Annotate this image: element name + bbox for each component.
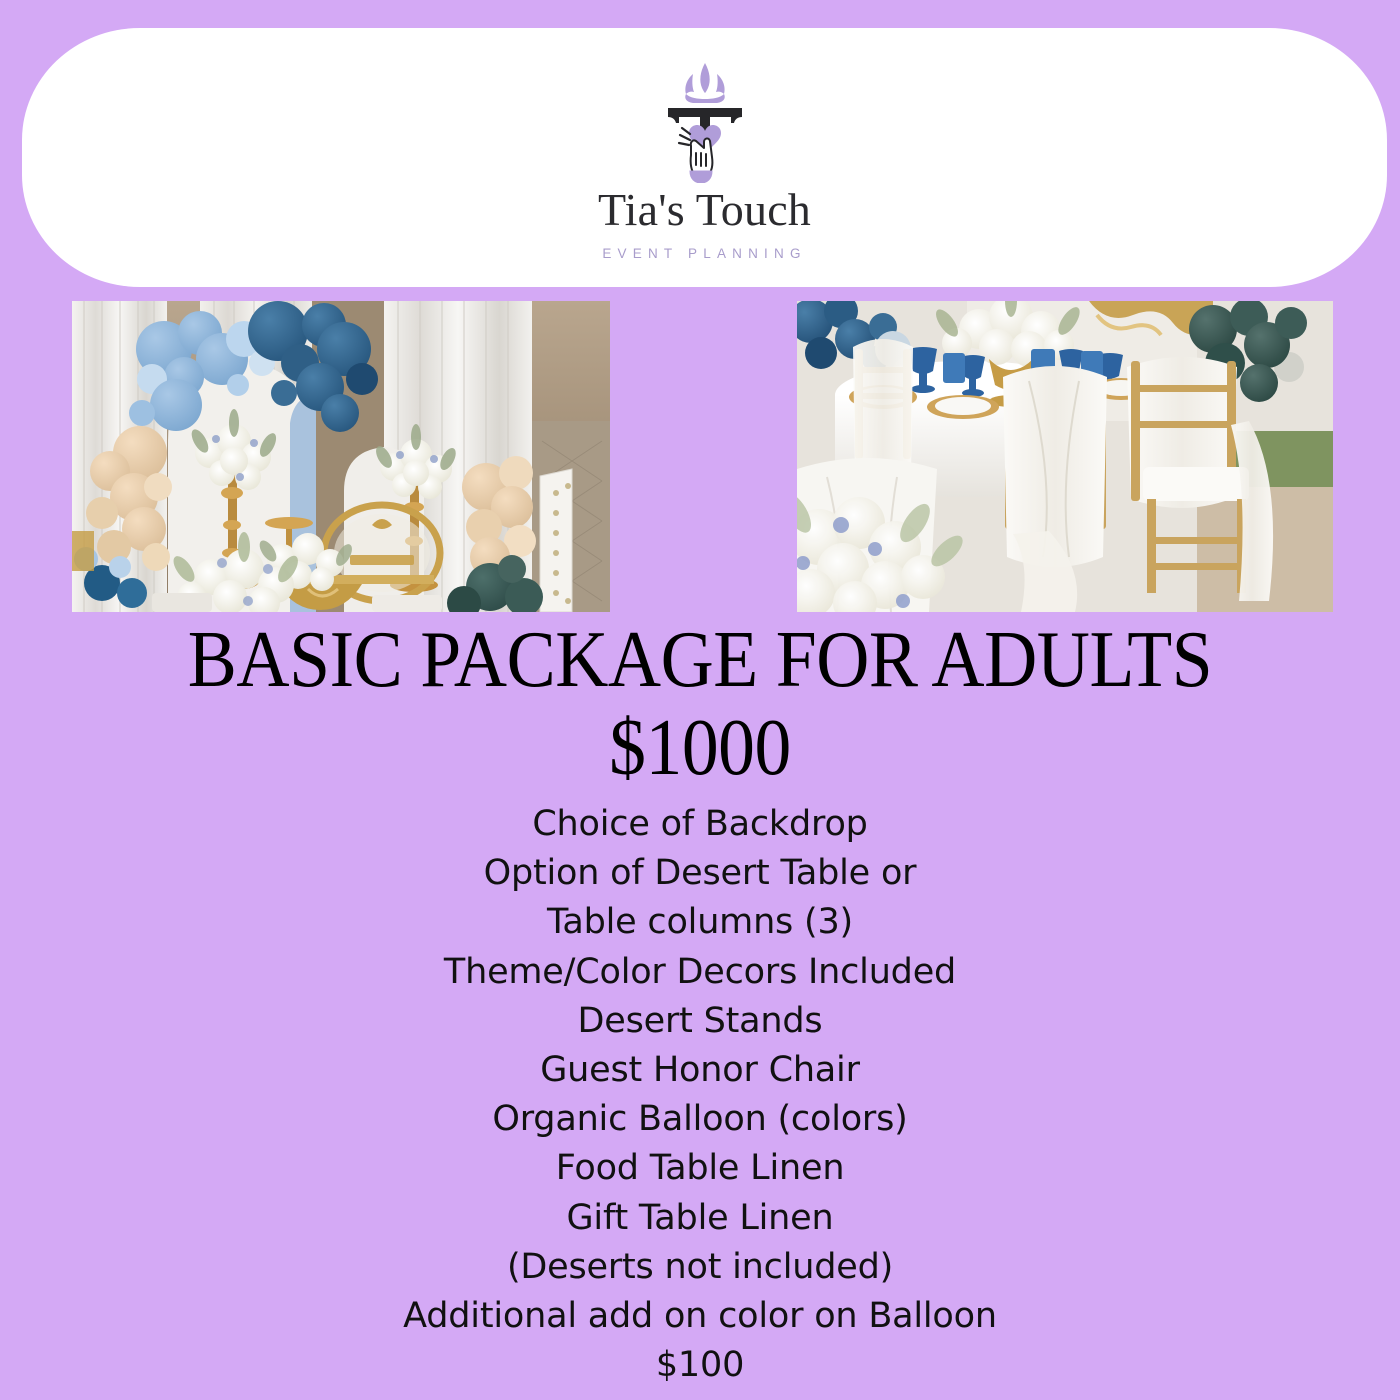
balloon-arch-backdrop-photo <box>72 301 610 612</box>
package-price: $1000 <box>56 708 1344 790</box>
feature-item: Option of Desert Table or <box>0 849 1400 898</box>
feature-item: Guest Honor Chair <box>0 1046 1400 1095</box>
feature-item: Additional add on color on Balloon <box>0 1292 1400 1341</box>
brand-name: Tia's Touch <box>598 187 811 233</box>
feature-item: (Deserts not included) <box>0 1243 1400 1292</box>
feature-item: Table columns (3) <box>0 898 1400 947</box>
feature-item: Theme/Color Decors Included <box>0 948 1400 997</box>
brand-logo: Tia's Touch EVENT PLANNING <box>575 61 835 261</box>
addon-price: $100 <box>0 1341 1400 1390</box>
brand-tagline: EVENT PLANNING <box>602 246 806 261</box>
feature-item: Organic Balloon (colors) <box>0 1095 1400 1144</box>
feature-item: Choice of Backdrop <box>0 800 1400 849</box>
feature-item: Desert Stands <box>0 997 1400 1046</box>
package-title: BASIC PACKAGE FOR ADULTS <box>188 616 1212 704</box>
feature-item: Gift Table Linen <box>0 1194 1400 1243</box>
fleur-de-lis-t-finger-heart-icon <box>646 61 764 183</box>
feature-list: Choice of Backdrop Option of Desert Tabl… <box>0 800 1400 1390</box>
page-title: BASIC PACKAGE FOR ADULTS $1000 <box>56 620 1344 789</box>
feature-item: Food Table Linen <box>0 1144 1400 1193</box>
logo-card: Tia's Touch EVENT PLANNING <box>22 28 1387 287</box>
banquet-table-setting-photo <box>797 301 1333 612</box>
